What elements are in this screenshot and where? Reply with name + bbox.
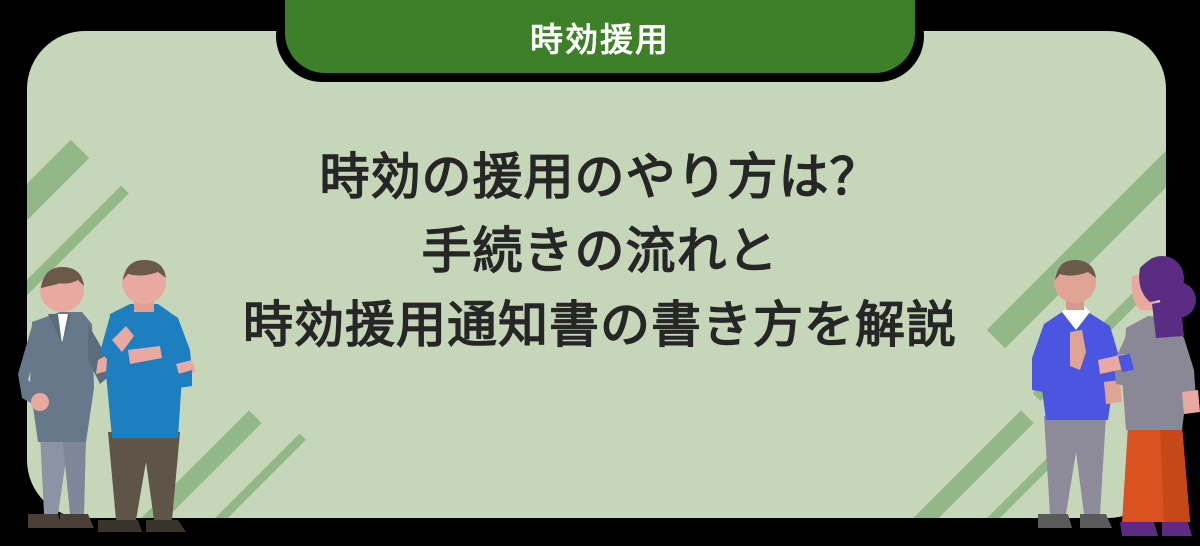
figure-man-in-blue-sweater	[98, 260, 196, 532]
illustration-left-two-people	[0, 256, 230, 546]
page-title-line-1: 時効の援用のやり方は？	[0, 140, 1200, 214]
figure-man-in-blue-cardigan	[1032, 260, 1122, 528]
illustration-right-two-people	[1000, 256, 1200, 546]
category-badge: 時効援用	[285, 0, 915, 73]
category-badge-label: 時効援用	[530, 17, 670, 56]
eyecatch-banner: 時効援用 時効の援用のやり方は？ 手続きの流れと 時効援用通知書の書き方を解説	[0, 0, 1200, 546]
figure-man-in-gray-suit	[18, 267, 124, 528]
